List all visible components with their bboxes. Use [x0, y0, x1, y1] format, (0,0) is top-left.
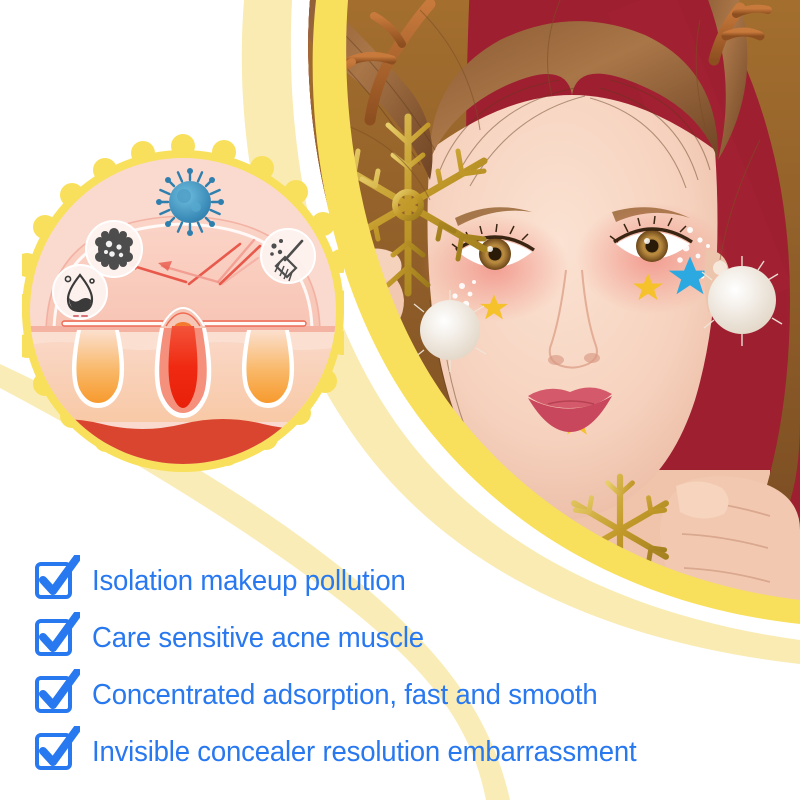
infographic-canvas: Isolation makeup pollution Care sensitiv… [0, 0, 800, 800]
list-item[interactable]: Concentrated adsorption, fast and smooth [36, 666, 776, 723]
pore-center-inflamed [155, 326, 212, 418]
pore-right [242, 330, 294, 408]
broom-icon [261, 229, 315, 283]
checkbox-checked-icon[interactable] [36, 675, 76, 715]
pore-left [72, 330, 124, 408]
water-droplet-icon [53, 265, 107, 319]
checkbox-checked-icon[interactable] [36, 618, 76, 658]
feature-label: Isolation makeup pollution [92, 565, 406, 597]
checkbox-checked-icon[interactable] [36, 561, 76, 601]
checkbox-checked-icon[interactable] [36, 732, 76, 772]
skin-cross-section-diagram [22, 132, 344, 490]
feature-label: Care sensitive acne muscle [92, 622, 424, 654]
feature-label: Concentrated adsorption, fast and smooth [92, 679, 597, 711]
list-item[interactable]: Isolation makeup pollution [36, 552, 776, 609]
list-item[interactable]: Care sensitive acne muscle [36, 609, 776, 666]
feature-list: Isolation makeup pollution Care sensitiv… [36, 552, 776, 780]
feature-label: Invisible concealer resolution embarrass… [92, 736, 636, 768]
virus-icon [156, 168, 224, 236]
list-item[interactable]: Invisible concealer resolution embarrass… [36, 723, 776, 780]
